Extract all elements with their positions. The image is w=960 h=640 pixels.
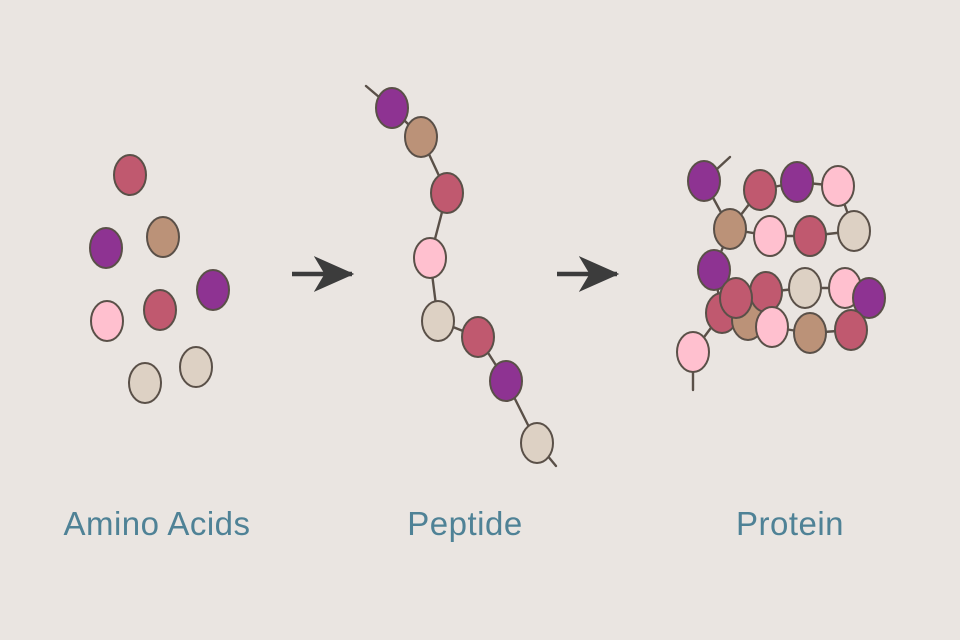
amino-acid-bead-beige (838, 211, 870, 251)
amino-acid-bead-pink (754, 216, 786, 256)
amino-acid-bead-tan (405, 117, 437, 157)
amino-acid-bead-rose (835, 310, 867, 350)
amino-acid-bead-pink (91, 301, 123, 341)
amino-acid-bead-purple (490, 361, 522, 401)
diagram-canvas: Amino Acids Peptide Protein (0, 0, 960, 640)
amino-acid-bead-rose (144, 290, 176, 330)
amino-acid-bead-pink (677, 332, 709, 372)
amino-acid-bead-rose (462, 317, 494, 357)
protein-synthesis-diagram (0, 0, 960, 640)
amino-acid-bead-tan (714, 209, 746, 249)
amino-acid-bead-purple (90, 228, 122, 268)
stage-label-peptide: Peptide (390, 505, 540, 543)
amino-acid-bead-rose (750, 272, 782, 312)
amino-acid-bead-rose (431, 173, 463, 213)
amino-acid-bead-pink (414, 238, 446, 278)
amino-acid-bead-rose (794, 216, 826, 256)
amino-acid-bead-rose (114, 155, 146, 195)
amino-acid-bead-beige (129, 363, 161, 403)
amino-acid-bead-beige (422, 301, 454, 341)
amino-acid-bead-purple (688, 161, 720, 201)
amino-acid-bead-beige (789, 268, 821, 308)
amino-acid-bead-pink (822, 166, 854, 206)
amino-acid-bead-tan (147, 217, 179, 257)
amino-acid-bead-pink (756, 307, 788, 347)
amino-acid-bead-beige (180, 347, 212, 387)
amino-acid-bead-purple (376, 88, 408, 128)
amino-acid-bead-rose (744, 170, 776, 210)
amino-acid-beads-layer (90, 88, 885, 463)
amino-acid-bead-purple (197, 270, 229, 310)
amino-acid-bead-rose (720, 278, 752, 318)
amino-acid-bead-tan (794, 313, 826, 353)
amino-acid-bead-purple (781, 162, 813, 202)
amino-acid-bead-beige (521, 423, 553, 463)
stage-label-protein: Protein (715, 505, 865, 543)
stage-label-amino-acids: Amino Acids (32, 505, 282, 543)
